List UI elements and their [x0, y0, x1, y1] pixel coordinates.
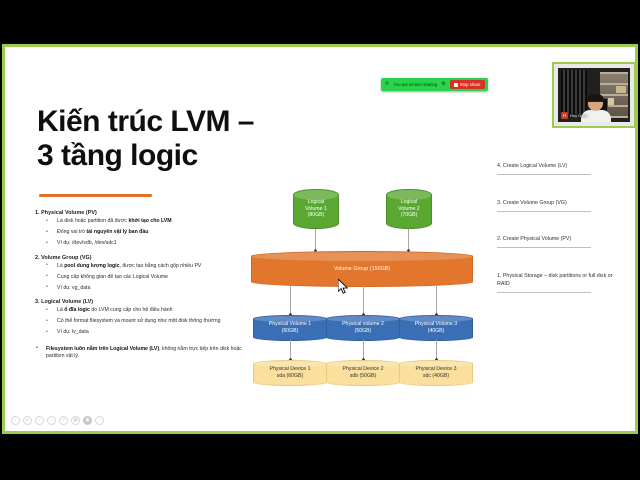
presentation-slide: Kiến trúc LVM – 3 tầng logic 1. Physical… — [5, 47, 635, 431]
stop-share-label: Stop share — [460, 82, 481, 87]
step-1-label: 1. Physical Storage – disk partitions or… — [497, 273, 619, 289]
avatar: H — [561, 112, 568, 119]
connector-vg-pv1 — [290, 286, 291, 315]
lock-icon[interactable]: ⌂ — [47, 416, 56, 425]
play-icon[interactable]: ▸ — [23, 416, 32, 425]
screen-root: Kiến trúc LVM – 3 tầng logic 1. Physical… — [0, 0, 640, 480]
participant-name: Huy Doãn — [570, 113, 588, 118]
step-4-label: 4. Create Logical Volume (LV) — [497, 163, 619, 171]
zoom-icon[interactable]: ⚲ — [59, 416, 68, 425]
page-title: Kiến trúc LVM – 3 tầng logic — [37, 105, 254, 172]
bullet-lv-1: Là ổ đĩa logic do LVM cung cấp cho hệ đi… — [35, 307, 243, 315]
bullet-pv-3: Ví dụ: /dev/sdb, /dev/sdc1 — [35, 240, 243, 248]
physical-volume-2-cylinder: Physical volume 2 (50GB) — [326, 315, 400, 341]
step-2: 2. Create Physical Volume (PV) — [497, 236, 619, 248]
lvm-architecture-diagram: Logical Volume 1 (80GB) Logical Volume 2… — [245, 137, 485, 427]
connector-pv2-pd2 — [363, 340, 364, 360]
stop-square-icon — [454, 83, 458, 87]
final-note: Filesystem luôn nằm trên Logical Volume … — [35, 346, 243, 361]
physical-volume-3-cylinder: Physical Volume 3 (40GB) — [399, 315, 473, 341]
bullet-pv-1: Là disk hoặc partition đã được khởi tạo … — [35, 218, 243, 226]
step-1: 1. Physical Storage – disk partitions or… — [497, 273, 619, 293]
steps-column: 4. Create Logical Volume (LV) 3. Create … — [497, 163, 619, 318]
physical-device-3-cylinder: Physical Device 3 sdc (40GB) — [399, 360, 473, 386]
step-3-label: 3. Create Volume Group (VG) — [497, 200, 619, 208]
sharing-status-text: You are screen sharing — [393, 82, 437, 87]
step-3-rule — [497, 211, 591, 212]
step-2-label: 2. Create Physical Volume (PV) — [497, 236, 619, 244]
webcam-tile[interactable]: H Huy Doãn — [552, 62, 636, 128]
connector-vg-pv2 — [363, 286, 364, 315]
stop-share-button[interactable]: Stop share — [450, 80, 485, 89]
glasses-icon — [589, 101, 602, 104]
phone-icon: ✆ — [385, 82, 389, 87]
server-rack — [561, 70, 587, 114]
physical-device-2-cylinder: Physical Device 2 sdb (50GB) — [326, 360, 400, 386]
bullet-vg-1: Là pool dung lượng logic, được tạo bằng … — [35, 263, 243, 271]
title-underline-rule — [39, 194, 152, 197]
bullet-lv-2: Có thể format filesystem và mount sử dụn… — [35, 318, 243, 326]
webcam-video: H Huy Doãn — [558, 68, 630, 122]
connector-lv1-vg — [315, 229, 316, 251]
step-2-rule — [497, 247, 591, 248]
notes-column: 1. Physical Volume (PV) Là disk hoặc par… — [35, 210, 243, 361]
logical-volume-2-cylinder: Logical Volume 2 (70GB) — [386, 189, 432, 229]
section-heading-pv: 1. Physical Volume (PV) — [35, 210, 243, 216]
step-4-rule — [497, 174, 591, 175]
mouse-cursor — [338, 279, 349, 294]
present-icon[interactable]: ▣ — [71, 416, 80, 425]
bullet-pv-2: Đóng vai trò tài nguyên vật lý ban đầu — [35, 229, 243, 237]
pen-icon[interactable]: ∕ — [35, 416, 44, 425]
gear-icon[interactable]: ⚙ — [441, 82, 445, 87]
bullet-vg-2: Cung cấp không gian để tạo các Logical V… — [35, 274, 243, 282]
slide-toolbar[interactable]: ‹ ▸ ∕ ⌂ ⚲ ▣ ◉ › — [11, 416, 104, 425]
physical-device-1-cylinder: Physical Device 1 sda (60GB) — [253, 360, 327, 386]
connector-lv2-vg — [408, 229, 409, 251]
step-4: 4. Create Logical Volume (LV) — [497, 163, 619, 175]
shelf-box-a — [616, 86, 626, 93]
bullet-lv-3: Ví dụ: lv_data — [35, 329, 243, 337]
screen-sharing-pill: ✆ You are screen sharing ⚙ Stop share — [381, 78, 488, 91]
section-heading-vg: 2. Volume Group (VG) — [35, 255, 243, 261]
physical-volume-1-cylinder: Physical Volume 1 (60GB) — [253, 315, 327, 341]
participant-name-overlay: H Huy Doãn — [561, 112, 588, 119]
next-icon[interactable]: › — [95, 416, 104, 425]
connector-vg-pv3 — [436, 286, 437, 315]
volume-group-cylinder: Volume Group (150GB) — [251, 251, 473, 287]
section-heading-lv: 3. Logical Volume (LV) — [35, 299, 243, 305]
connector-pv1-pd1 — [290, 340, 291, 360]
step-3: 3. Create Volume Group (VG) — [497, 200, 619, 212]
record-icon[interactable]: ◉ — [83, 416, 92, 425]
connector-pv3-pd3 — [436, 340, 437, 360]
screen-share-frame: Kiến trúc LVM – 3 tầng logic 1. Physical… — [2, 44, 638, 434]
previous-icon[interactable]: ‹ — [11, 416, 20, 425]
logical-volume-1-cylinder: Logical Volume 1 (80GB) — [293, 189, 339, 229]
bullet-vg-3: Ví dụ: vg_data — [35, 285, 243, 293]
step-1-rule — [497, 292, 591, 293]
